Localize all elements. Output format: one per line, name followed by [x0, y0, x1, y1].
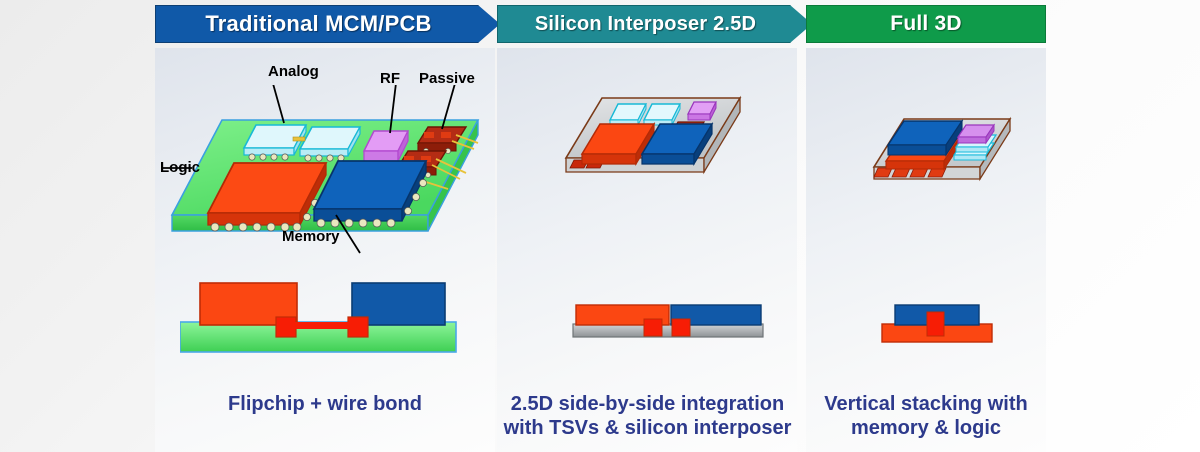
caption-traditional: Flipchip + wire bond — [155, 392, 495, 416]
illustration-full3d-stack — [862, 105, 1037, 190]
cross-section-interposer — [570, 292, 770, 342]
rf-die — [688, 102, 716, 120]
header-full-3d[interactable]: Full 3D — [806, 5, 1046, 43]
caption-interposer: 2.5D side-by-side integration with TSVs … — [490, 392, 805, 441]
header-traditional-label: Traditional MCM/PCB — [205, 11, 431, 37]
label-logic: Logic — [160, 159, 200, 176]
label-memory: Memory — [282, 228, 340, 245]
caption-traditional-line1: Flipchip + wire bond — [155, 392, 495, 416]
cross-section-traditional — [180, 275, 470, 360]
caption-full3d-line2: memory & logic — [806, 416, 1046, 440]
diagram-canvas: Traditional MCM/PCB Silicon Interposer 2… — [0, 0, 1200, 452]
cross-section-full3d — [876, 300, 1006, 345]
caption-interposer-line1: 2.5D side-by-side integration — [490, 392, 805, 416]
illustration-interposer-3d — [548, 80, 763, 195]
caption-interposer-line2: with TSVs & silicon interposer — [490, 416, 805, 440]
header-silicon-interposer[interactable]: Silicon Interposer 2.5D — [497, 5, 812, 43]
label-rf: RF — [380, 70, 400, 87]
header-full3d-label: Full 3D — [890, 12, 961, 36]
label-passive: Passive — [419, 70, 475, 87]
label-analog: Analog — [268, 63, 319, 80]
header-interposer-label: Silicon Interposer 2.5D — [535, 13, 756, 36]
caption-full3d: Vertical stacking with memory & logic — [806, 392, 1046, 441]
caption-full3d-line1: Vertical stacking with — [806, 392, 1046, 416]
header-traditional-mcm-pcb[interactable]: Traditional MCM/PCB — [155, 5, 500, 43]
